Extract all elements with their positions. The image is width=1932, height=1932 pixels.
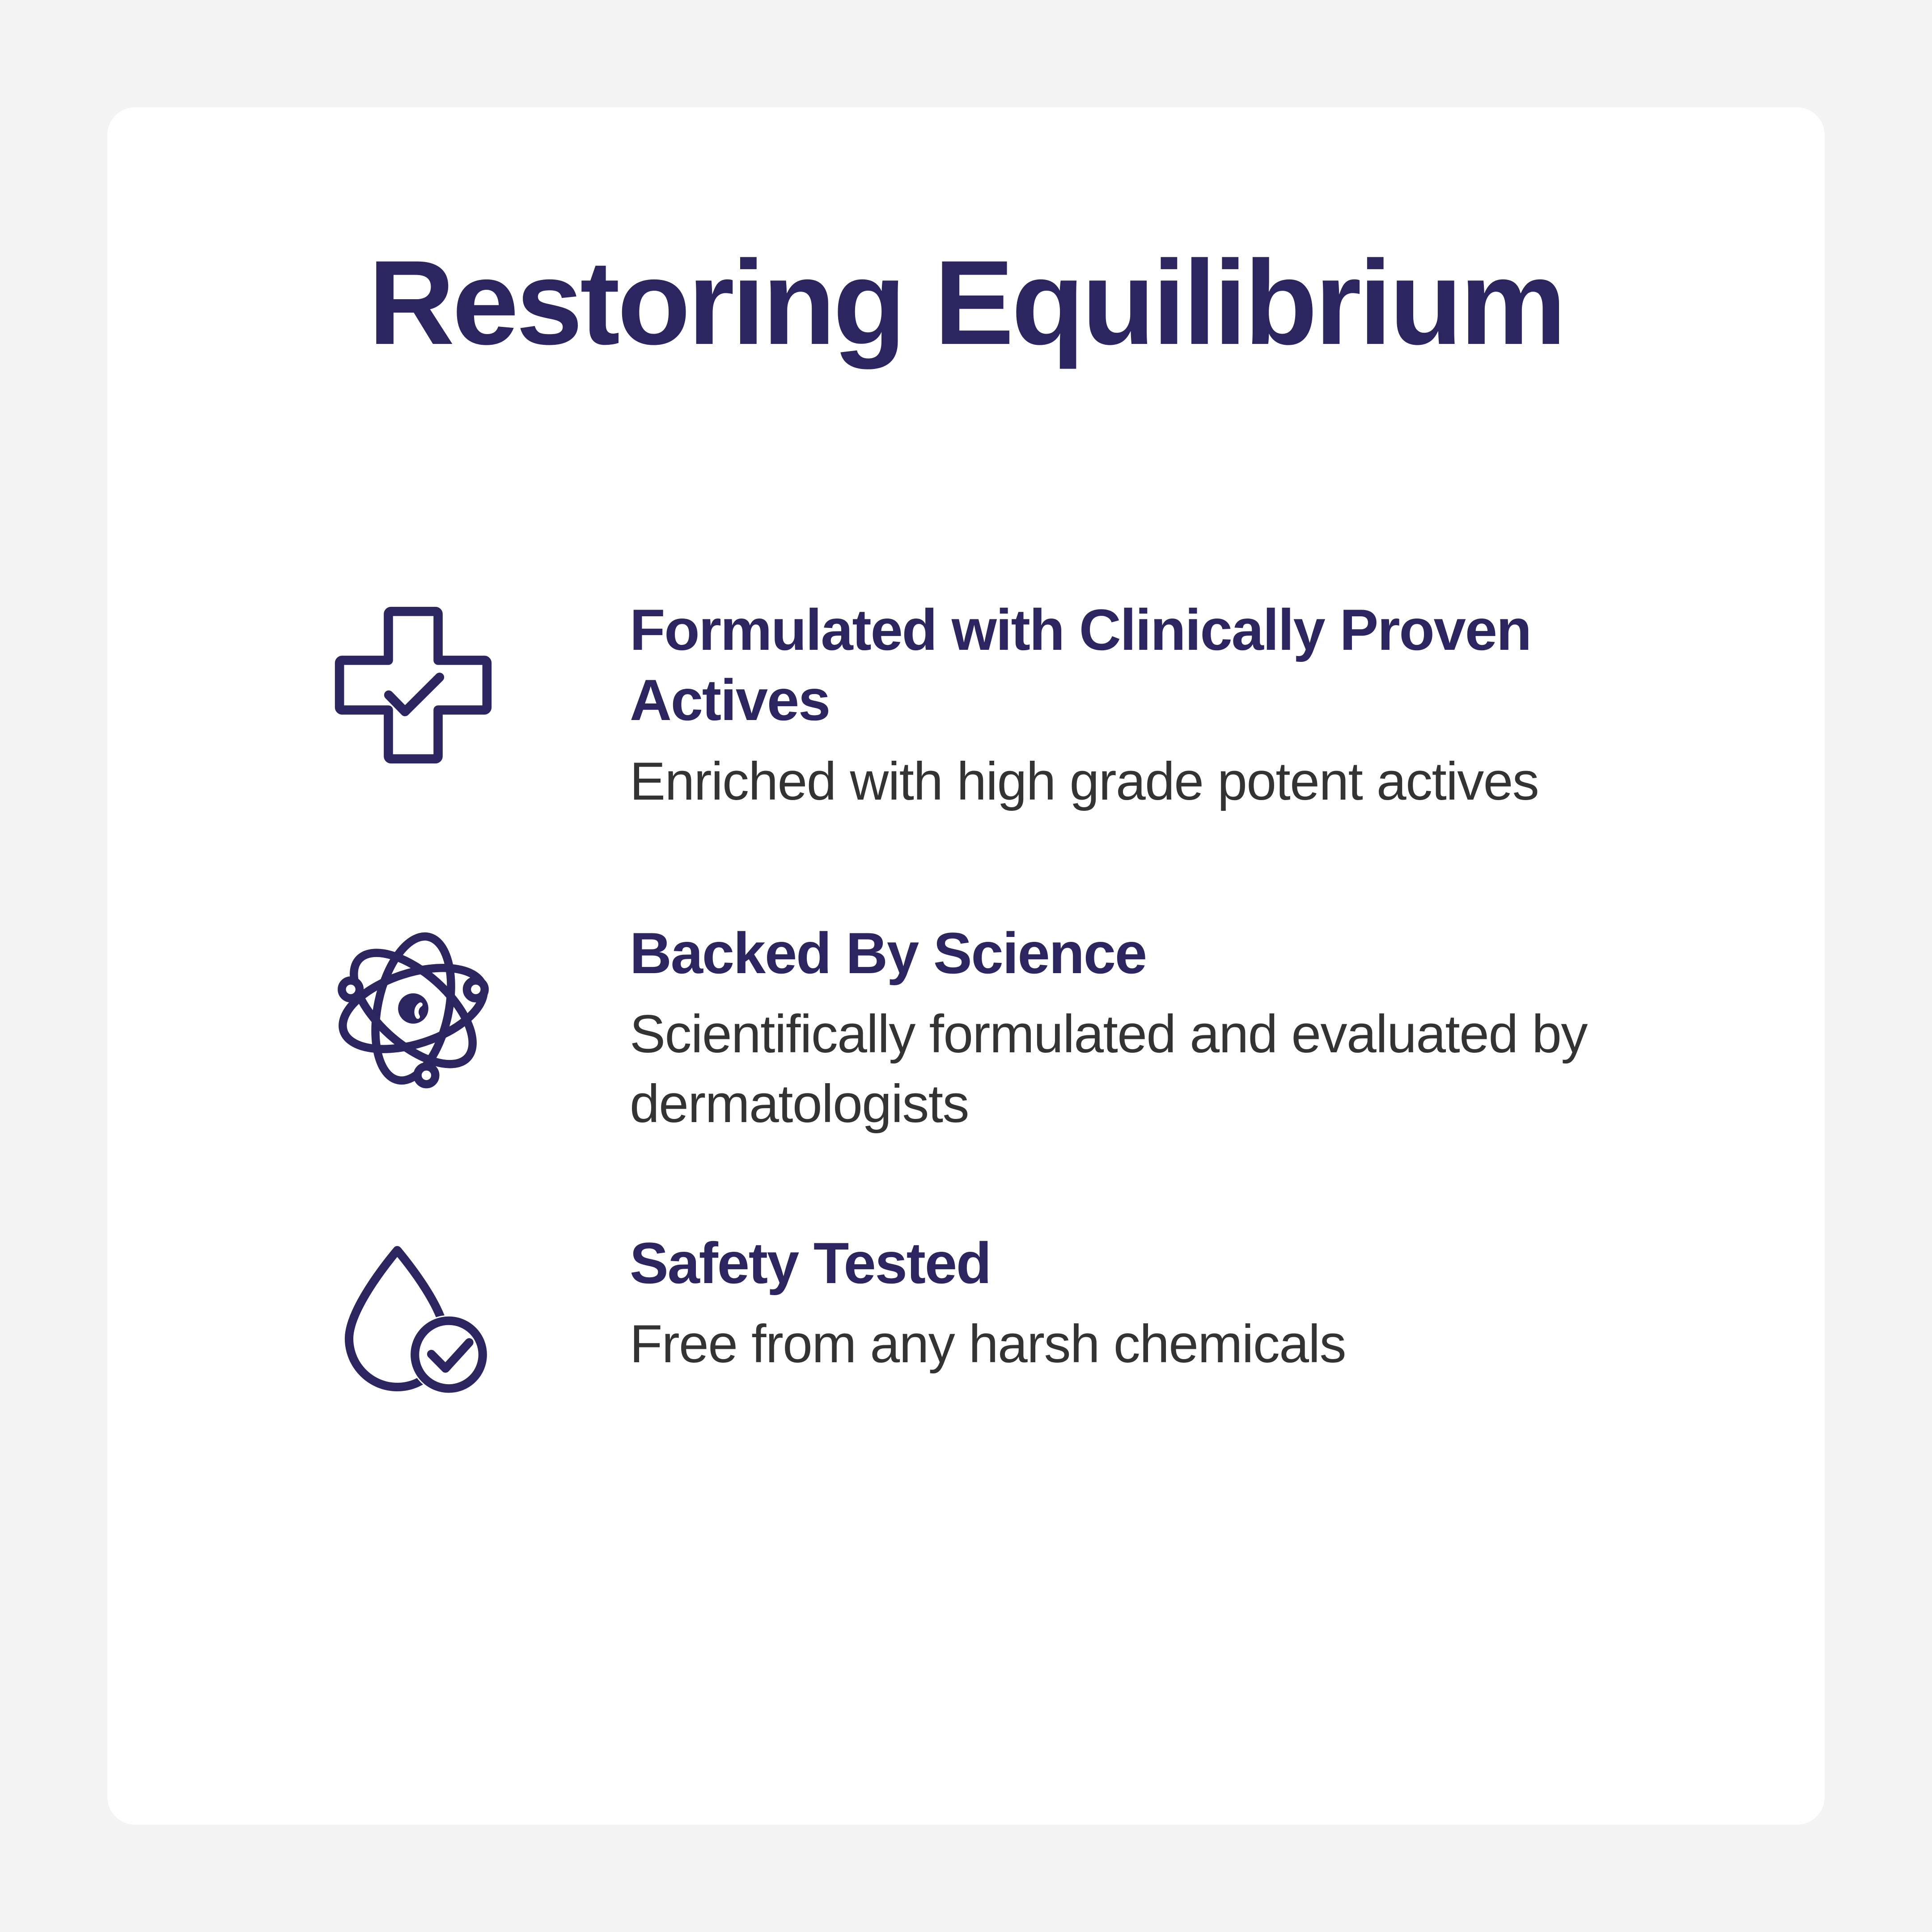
feature-item-formulated: Formulated with Clinically Proven Active… (313, 595, 1655, 816)
droplet-check-icon-svg (331, 1236, 496, 1401)
feature-text-safety: Safety Tested Free from any harsh chemic… (630, 1228, 1636, 1379)
feature-title: Backed By Science (630, 918, 1636, 988)
feature-text-formulated: Formulated with Clinically Proven Active… (630, 595, 1636, 816)
row-spacer (313, 1139, 1655, 1228)
page-title: Restoring Equilibrium (107, 241, 1825, 364)
atom-icon-svg (331, 926, 496, 1091)
page-root: Restoring Equilibrium Formulated with Cl… (0, 0, 1932, 1932)
feature-list: Formulated with Clinically Proven Active… (313, 595, 1655, 1401)
feature-title: Formulated with Clinically Proven Active… (630, 595, 1636, 736)
feature-description: Free from any harsh chemicals (630, 1309, 1636, 1379)
feature-item-science: Backed By Science Scientifically formula… (313, 918, 1655, 1139)
cross-check-icon-svg (331, 603, 496, 767)
atom-icon (313, 918, 630, 1091)
feature-item-safety: Safety Tested Free from any harsh chemic… (313, 1228, 1655, 1401)
cross-check-icon (313, 595, 630, 767)
feature-description: Scientifically formulated and evaluated … (630, 999, 1636, 1139)
droplet-check-icon (313, 1228, 630, 1401)
row-spacer (313, 816, 1655, 918)
feature-description: Enriched with high grade potent actives (630, 746, 1636, 816)
feature-text-science: Backed By Science Scientifically formula… (630, 918, 1636, 1139)
feature-title: Safety Tested (630, 1228, 1636, 1298)
